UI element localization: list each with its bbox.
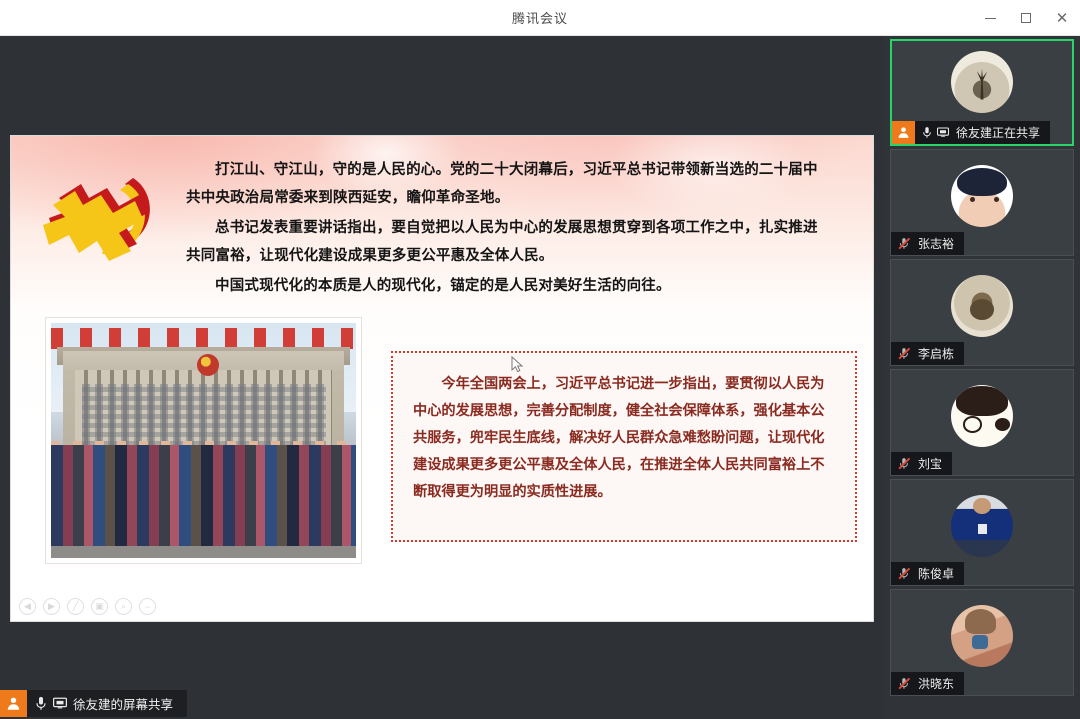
minimize-toolbar-button[interactable]: −: [139, 598, 156, 615]
microphone-muted-icon: [898, 677, 911, 690]
host-badge-icon: [0, 690, 27, 717]
previous-slide-button[interactable]: ◀: [19, 598, 36, 615]
participant-label: 陈俊卓: [891, 562, 964, 585]
maximize-button[interactable]: [1008, 0, 1044, 36]
slide-callout-text: 今年全国两会上，习近平总书记进一步指出，要贯彻以人民为中心的发展思想，完善分配制…: [413, 371, 835, 506]
photo-great-hall-delegates: [51, 323, 356, 558]
participant-label: 刘宝: [891, 452, 952, 475]
photo-national-emblem: [197, 354, 219, 376]
participant-name: 陈俊卓: [911, 565, 964, 582]
annotate-pen-button[interactable]: ╱: [67, 598, 84, 615]
screen-share-owner-label: 徐友建的屏幕共享: [73, 694, 187, 713]
slide-callout-box: 今年全国两会上，习近平总书记进一步指出，要贯彻以人民为中心的发展思想，完善分配制…: [391, 351, 857, 542]
microphone-icon: [35, 696, 47, 711]
slide-toolbar[interactable]: ◀ ▶ ╱ ▣ ⌕ −: [19, 598, 156, 615]
minimize-icon: [985, 18, 996, 19]
minimize-button[interactable]: [972, 0, 1008, 36]
shared-slide[interactable]: 打江山、守江山，守的是人民的心。党的二十大闭幕后，习近平总书记带领新当选的二十届…: [10, 135, 874, 622]
window-title-bar: 腾讯会议 ✕: [0, 0, 1080, 36]
participant-name: 刘宝: [911, 455, 952, 472]
app-title: 腾讯会议: [512, 8, 568, 27]
participant-label: 李启栋: [891, 342, 964, 365]
participant-status-icons: [891, 347, 911, 360]
window-controls: ✕: [972, 0, 1080, 36]
avatar: [951, 385, 1013, 447]
zoom-button[interactable]: ⌕: [115, 598, 132, 615]
microphone-muted-icon: [898, 237, 911, 250]
participant-tile-zhangzhiyu[interactable]: 张志裕: [890, 149, 1074, 256]
avatar: [951, 165, 1013, 227]
participant-name: 徐友建正在共享: [949, 124, 1050, 141]
microphone-muted-icon: [898, 347, 911, 360]
display-button[interactable]: ▣: [91, 598, 108, 615]
play-slide-button[interactable]: ▶: [43, 598, 60, 615]
participant-label: 徐友建正在共享: [892, 121, 1050, 144]
photo-ground: [51, 546, 356, 558]
participant-label: 洪晓东: [891, 672, 964, 695]
participant-rail[interactable]: 徐友建正在共享 张志裕: [884, 36, 1080, 719]
slide-paragraph-1: 打江山、守江山，守的是人民的心。党的二十大闭幕后，习近平总书记带领新当选的二十届…: [186, 156, 826, 212]
avatar: [951, 51, 1013, 113]
participant-tile-xuyoujian[interactable]: 徐友建正在共享: [890, 39, 1074, 146]
participant-tile-liqidong[interactable]: 李启栋: [890, 259, 1074, 366]
slide-paragraph-block: 打江山、守江山，守的是人民的心。党的二十大闭幕后，习近平总书记带领新当选的二十届…: [186, 156, 826, 300]
participant-status-icons: [915, 126, 949, 139]
participant-tile-hongxiaodong[interactable]: 洪晓东: [890, 589, 1074, 696]
cpc-party-emblem-icon: [37, 158, 167, 276]
mouse-cursor: [511, 356, 525, 374]
screen-share-icon: [937, 127, 949, 138]
shared-screen-stage[interactable]: 打江山、守江山，守的是人民的心。党的二十大闭幕后，习近平总书记带领新当选的二十届…: [0, 36, 884, 719]
participant-name: 洪晓东: [911, 675, 964, 692]
screen-share-status-bar: 徐友建的屏幕共享: [0, 690, 187, 717]
participant-tile-chenjunzhuo[interactable]: 陈俊卓: [890, 479, 1074, 586]
meeting-window-body: 打江山、守江山，守的是人民的心。党的二十大闭幕后，习近平总书记带领新当选的二十届…: [0, 36, 1080, 719]
participant-name: 张志裕: [911, 235, 964, 252]
slide-photo: [46, 318, 361, 563]
maximize-icon: [1021, 13, 1031, 23]
participant-label: 张志裕: [891, 232, 964, 255]
participant-tile-liubao[interactable]: 刘宝: [890, 369, 1074, 476]
close-button[interactable]: ✕: [1044, 0, 1080, 36]
participant-status-icons: [891, 677, 911, 690]
participant-status-icons: [891, 237, 911, 250]
avatar: [951, 605, 1013, 667]
microphone-icon: [922, 126, 932, 139]
close-icon: ✕: [1056, 11, 1069, 26]
avatar: [951, 275, 1013, 337]
microphone-muted-icon: [898, 567, 911, 580]
screen-share-icon: [53, 697, 67, 710]
participant-status-icons: [891, 457, 911, 470]
participant-status-icons: [891, 567, 911, 580]
photo-crowd: [51, 445, 356, 558]
participant-name: 李启栋: [911, 345, 964, 362]
avatar: [951, 495, 1013, 557]
microphone-muted-icon: [898, 457, 911, 470]
share-status-icons: [27, 696, 73, 711]
slide-paragraph-2: 总书记发表重要讲话指出，要自觉把以人民为中心的发展思想贯穿到各项工作之中，扎实推…: [186, 214, 826, 270]
host-badge-icon: [892, 121, 915, 144]
slide-paragraph-3: 中国式现代化的本质是人的现代化，锚定的是人民对美好生活的向往。: [186, 272, 826, 300]
